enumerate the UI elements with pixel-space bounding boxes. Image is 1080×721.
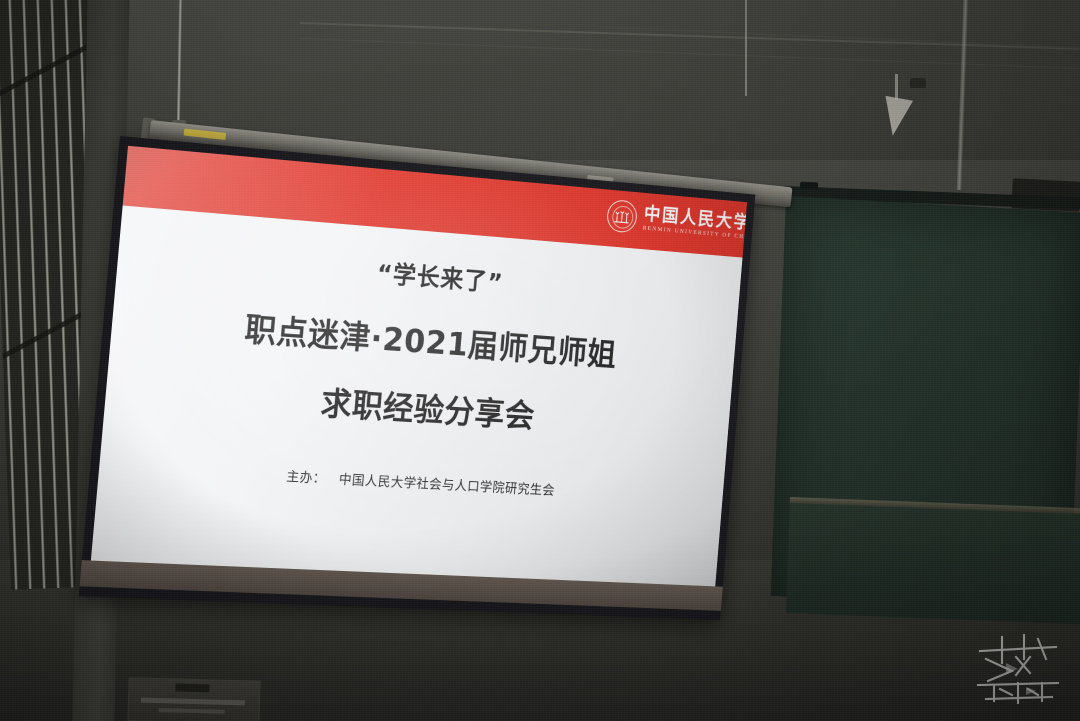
lamp-stem <box>895 74 898 100</box>
photo-scene: 中国人民大学 RENMIN UNIVERSITY OF CHINA “学长来了”… <box>0 0 1080 721</box>
wall-notice-sign <box>127 677 260 721</box>
presentation-slide[interactable]: 中国人民大学 RENMIN UNIVERSITY OF CHINA “学长来了”… <box>91 146 747 587</box>
slide-title-line1: 职点迷津·2021届师兄师姐 <box>243 303 619 375</box>
organizer-label: 主办： <box>286 465 327 487</box>
renmin-university-seal-icon <box>606 199 638 233</box>
chalkboard-clip <box>800 182 818 190</box>
chalkboard-lower-panel <box>786 503 1080 624</box>
projection-screen[interactable]: 中国人民大学 RENMIN UNIVERSITY OF CHINA “学长来了”… <box>79 136 756 620</box>
organizer-name: 中国人民大学社会与人口学院研究生会 <box>338 468 555 499</box>
slide-organizer: 主办： 中国人民大学社会与人口学院研究生会 <box>286 465 556 498</box>
roller-warning-label <box>184 129 227 140</box>
slide-content: “学长来了” 职点迷津·2021届师兄师姐 求职经验分享会 主办： 中国人民大学… <box>91 209 742 586</box>
slide-title-line2: 求职经验分享会 <box>319 377 537 436</box>
university-brand: 中国人民大学 RENMIN UNIVERSITY OF CHINA <box>606 199 747 244</box>
screen-hanger-rod-right <box>745 0 747 96</box>
ceiling-junction-box <box>910 78 926 88</box>
slide-title-quote: “学长来了” <box>376 254 505 298</box>
publisher-logo-watermark <box>972 629 1064 707</box>
